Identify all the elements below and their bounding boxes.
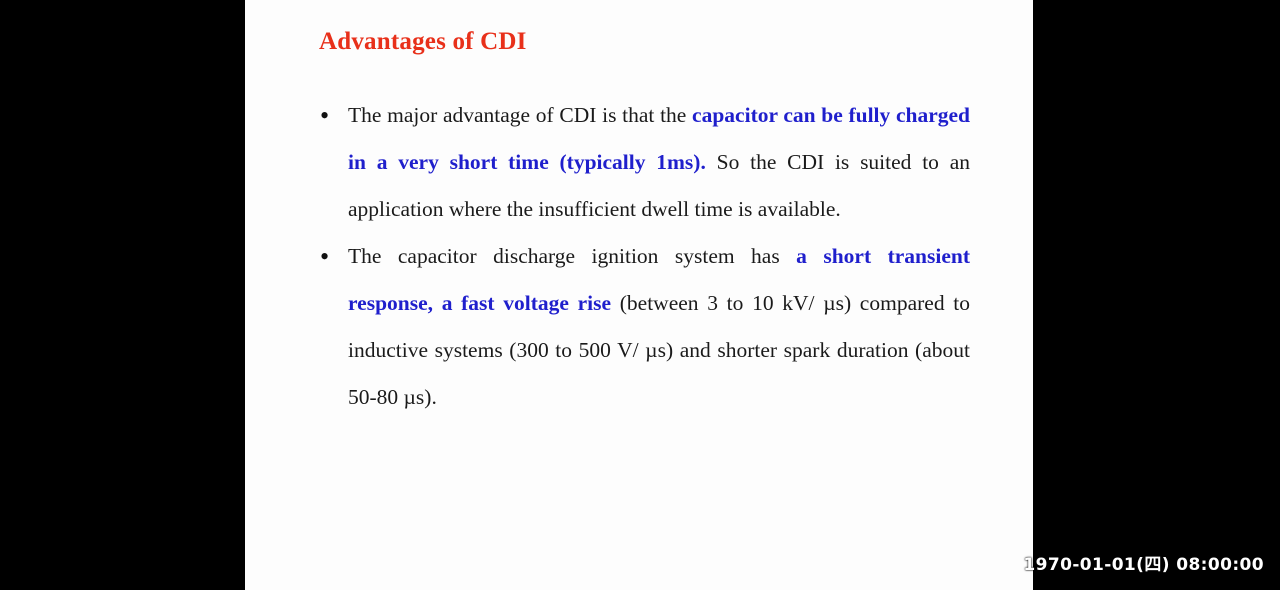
letterbox-bar-right [1033, 0, 1280, 590]
letterbox-bar-left [0, 0, 245, 590]
video-timestamp-overlay: 1970-01-01(四) 08:00:00 [1023, 555, 1264, 575]
video-player-screen: Advantages of CDI • The major advantage … [0, 0, 1280, 590]
bullet-list: • The major advantage of CDI is that the… [245, 92, 1033, 421]
bullet-2-text: The capacitor discharge ignition system … [348, 233, 970, 421]
bullet-1-text: The major advantage of CDI is that the c… [348, 92, 970, 233]
presentation-slide: Advantages of CDI • The major advantage … [245, 0, 1033, 590]
bullet-1-segment-0: The major advantage of CDI is that the [348, 103, 692, 127]
page-title: Advantages of CDI [319, 27, 527, 57]
bullet-2-segment-0: The capacitor discharge ignition system … [348, 244, 796, 268]
list-item: • The major advantage of CDI is that the… [245, 92, 1033, 233]
bullet-point-icon: • [320, 92, 329, 139]
list-item: • The capacitor discharge ignition syste… [245, 233, 1033, 421]
bullet-point-icon: • [320, 233, 329, 280]
